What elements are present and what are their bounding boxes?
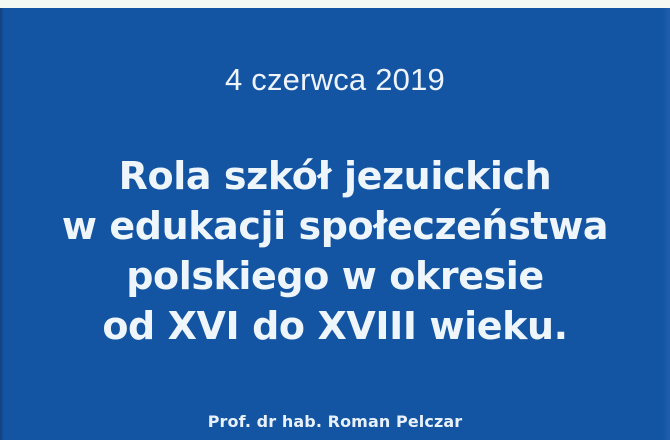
title-line-2: w edukacji społeczeństwa [0, 201, 670, 251]
slide-content: 4 czerwca 2019 Rola szkół jezuickich w e… [0, 8, 670, 440]
slide-title: Rola szkół jezuickich w edukacji społecz… [0, 151, 670, 351]
top-white-border [0, 0, 670, 8]
title-line-3: polskiego w okresie [0, 251, 670, 301]
presenter-block: Prof. dr hab. Roman Pelczar [0, 411, 670, 433]
title-line-4: od XVI do XVIII wieku. [0, 301, 670, 351]
title-line-1: Rola szkół jezuickich [0, 151, 670, 201]
event-date: 4 czerwca 2019 [0, 61, 670, 99]
presentation-slide: 4 czerwca 2019 Rola szkół jezuickich w e… [0, 0, 670, 440]
slide-blue-panel: 4 czerwca 2019 Rola szkół jezuickich w e… [0, 8, 670, 440]
presenter-name: Prof. dr hab. Roman Pelczar [0, 411, 670, 433]
